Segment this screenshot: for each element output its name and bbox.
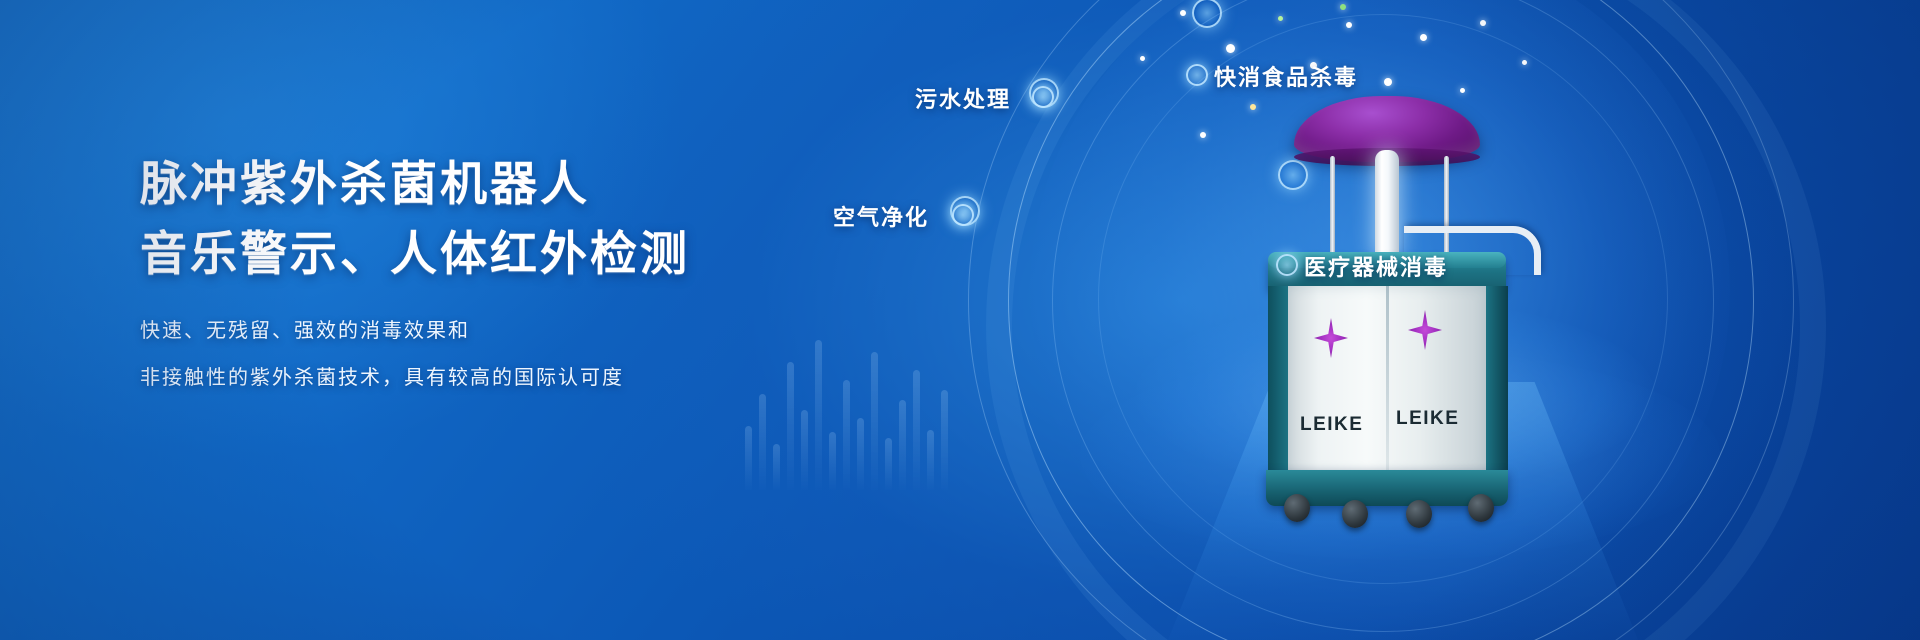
sparkle-icon (1460, 88, 1465, 93)
hero-title-line-2: 音乐警示、人体红外检测 (140, 220, 780, 290)
lamp-support-rod (1330, 156, 1335, 256)
sparkle-icon (1226, 44, 1235, 53)
robot-body-right-edge (1486, 286, 1508, 474)
callout-dot-icon-wastewater (1032, 86, 1054, 108)
hero-subtitle-line-1: 快速、无残留、强效的消毒效果和 (140, 316, 780, 346)
sparkle-icon (1346, 22, 1352, 28)
robot-wheel-icon (1342, 500, 1368, 528)
robot-wheel-icon (1406, 500, 1432, 528)
robot-wheel-icon (1284, 494, 1310, 522)
sparkle-icon (1480, 20, 1486, 26)
hero-subtitle: 快速、无残留、强效的消毒效果和 非接触性的紫外杀菌技术，具有较高的国际认可度 (140, 316, 780, 393)
robot-panel-divider (1386, 286, 1389, 474)
brand-logo-left: LEIKE (1300, 414, 1363, 436)
sparkle-icon (1420, 34, 1427, 41)
callout-dot-icon-medical-device (1276, 254, 1298, 276)
sparkle-icon (1340, 4, 1346, 10)
callout-label-medical-device: 医疗器械消毒 (1304, 250, 1448, 282)
sparkle-icon (1180, 10, 1186, 16)
brand-logo-right: LEIKE (1396, 408, 1459, 430)
callout-dot-icon-food-disinfection (1186, 64, 1208, 86)
hero-title-line-1: 脉冲紫外杀菌机器人 (140, 150, 780, 220)
callout-label-food-disinfection: 快消食品杀毒 (1214, 60, 1358, 92)
sparkle-icon (1140, 56, 1145, 61)
robot-wheel-icon (1468, 494, 1494, 522)
hero-banner: 脉冲紫外杀菌机器人 音乐警示、人体红外检测 快速、无残留、强效的消毒效果和 非接… (0, 0, 1920, 640)
robot-body-left-edge (1268, 286, 1288, 474)
hero-subtitle-line-2: 非接触性的紫外杀菌技术，具有较高的国际认可度 (140, 363, 780, 393)
uv-robot-illustration: LEIKE LEIKE (1256, 96, 1516, 496)
sparkle-icon (1278, 16, 1283, 21)
callout-label-wastewater: 污水处理 (915, 82, 1011, 114)
hero-copy: 脉冲紫外杀菌机器人 音乐警示、人体红外检测 快速、无残留、强效的消毒效果和 非接… (140, 150, 780, 410)
uv-lamp-tube-icon (1375, 150, 1399, 258)
sparkle-icon (1522, 60, 1527, 65)
sparkle-icon (1200, 132, 1206, 138)
sparkle-icon (1384, 78, 1392, 86)
callout-label-air-purification: 空气净化 (833, 200, 929, 232)
callout-dot-icon-air-purification (952, 204, 974, 226)
